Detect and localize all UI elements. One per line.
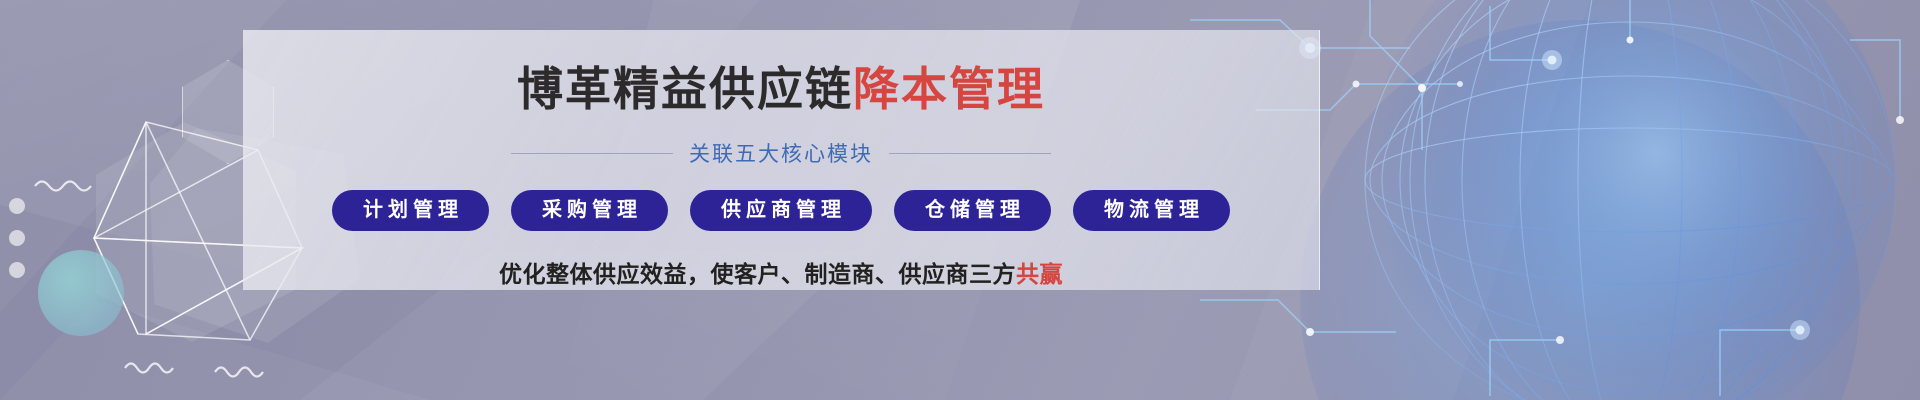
globe-glow [1300, 20, 1860, 400]
decorative-dot [9, 262, 25, 278]
headline-dark-text: 博革精益供应链 [517, 63, 853, 115]
module-pill-logistics[interactable]: 物流管理 [1073, 190, 1230, 231]
tagline: 优化整体供应效益，使客户、制造商、供应商三方共赢 [499, 255, 1063, 289]
subtitle-text: 关联五大核心模块 [689, 138, 873, 168]
wavy-line-icon [214, 362, 268, 380]
teal-circle-icon [38, 250, 124, 336]
module-pill-purchase[interactable]: 采购管理 [511, 190, 668, 231]
module-pill-row: 计划管理 采购管理 供应商管理 仓储管理 物流管理 [332, 190, 1230, 231]
tagline-dark-text: 优化整体供应效益，使客户、制造商、供应商三方 [499, 261, 1016, 287]
tagline-red-text: 共赢 [1016, 261, 1063, 287]
wavy-line-icon [124, 358, 176, 376]
headline-red-text: 降本管理 [853, 63, 1045, 115]
decorative-dot [9, 198, 25, 214]
module-pill-warehouse[interactable]: 仓储管理 [894, 190, 1051, 231]
decorative-dot [9, 230, 25, 246]
page-title: 博革精益供应链降本管理 [517, 66, 1045, 112]
background-shard [0, 300, 430, 400]
content-panel: 博革精益供应链降本管理 关联五大核心模块 计划管理 采购管理 供应商管理 仓储管… [243, 30, 1320, 290]
dot-column [9, 198, 27, 278]
wavy-line-icon [34, 176, 98, 194]
subtitle-row: 关联五大核心模块 [511, 138, 1051, 168]
subtitle-rule-right [889, 153, 1051, 154]
module-pill-supplier[interactable]: 供应商管理 [690, 190, 872, 231]
subtitle-rule-left [511, 153, 673, 154]
supply-chain-banner: 博革精益供应链降本管理 关联五大核心模块 计划管理 采购管理 供应商管理 仓储管… [0, 0, 1920, 400]
module-pill-plan[interactable]: 计划管理 [332, 190, 489, 231]
